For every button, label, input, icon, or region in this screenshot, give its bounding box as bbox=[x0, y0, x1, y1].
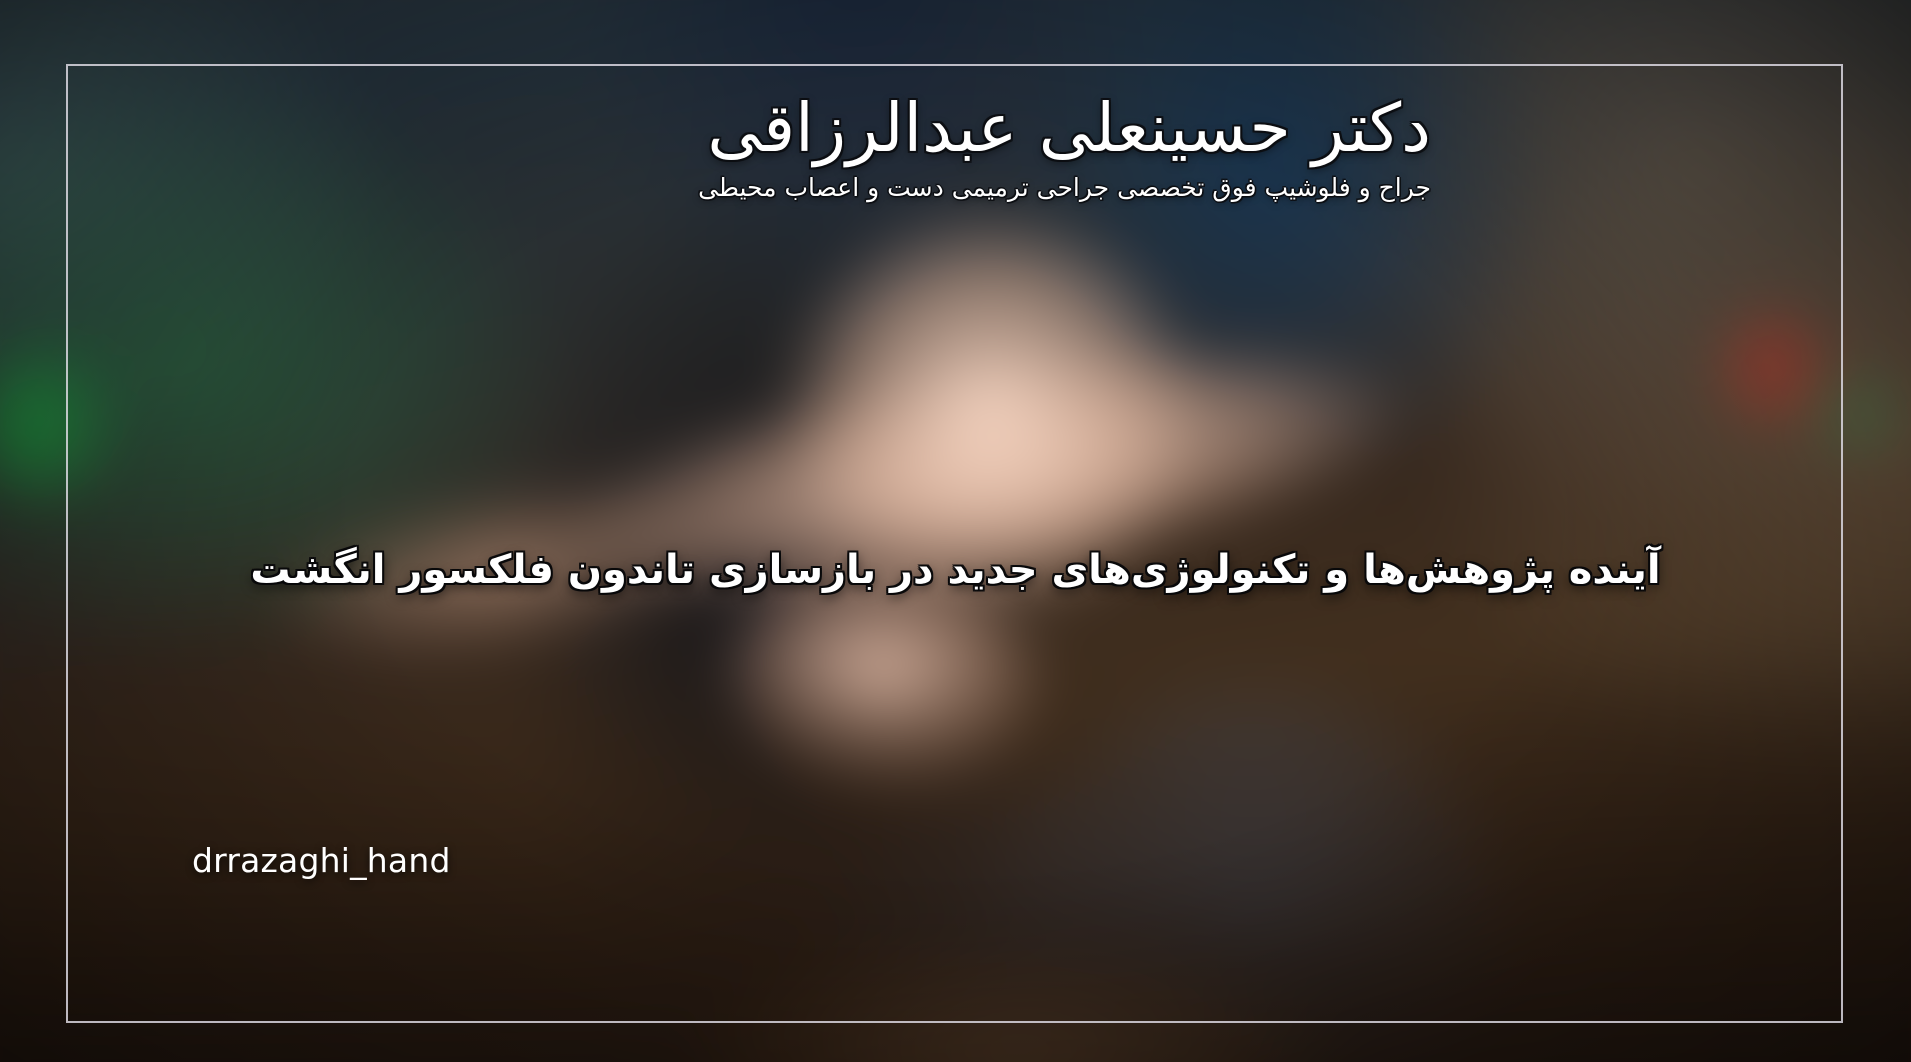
presentation-slide: دکتر حسینعلی عبدالرزاقی جراح و فلوشیپ فو… bbox=[0, 0, 1911, 1062]
watermark-handle: drrazaghi_hand bbox=[192, 843, 451, 879]
doctor-credentials: جراح و فلوشیپ فوق تخصصی جراحی ترمیمی دست… bbox=[698, 172, 1431, 203]
slide-headline: آینده پژوهش‌ها و تکنولوژی‌های جدید در با… bbox=[0, 545, 1911, 595]
doctor-header: دکتر حسینعلی عبدالرزاقی جراح و فلوشیپ فو… bbox=[698, 92, 1431, 204]
doctor-name: دکتر حسینعلی عبدالرزاقی bbox=[698, 92, 1431, 164]
background-floor-sheen bbox=[549, 815, 1483, 1062]
